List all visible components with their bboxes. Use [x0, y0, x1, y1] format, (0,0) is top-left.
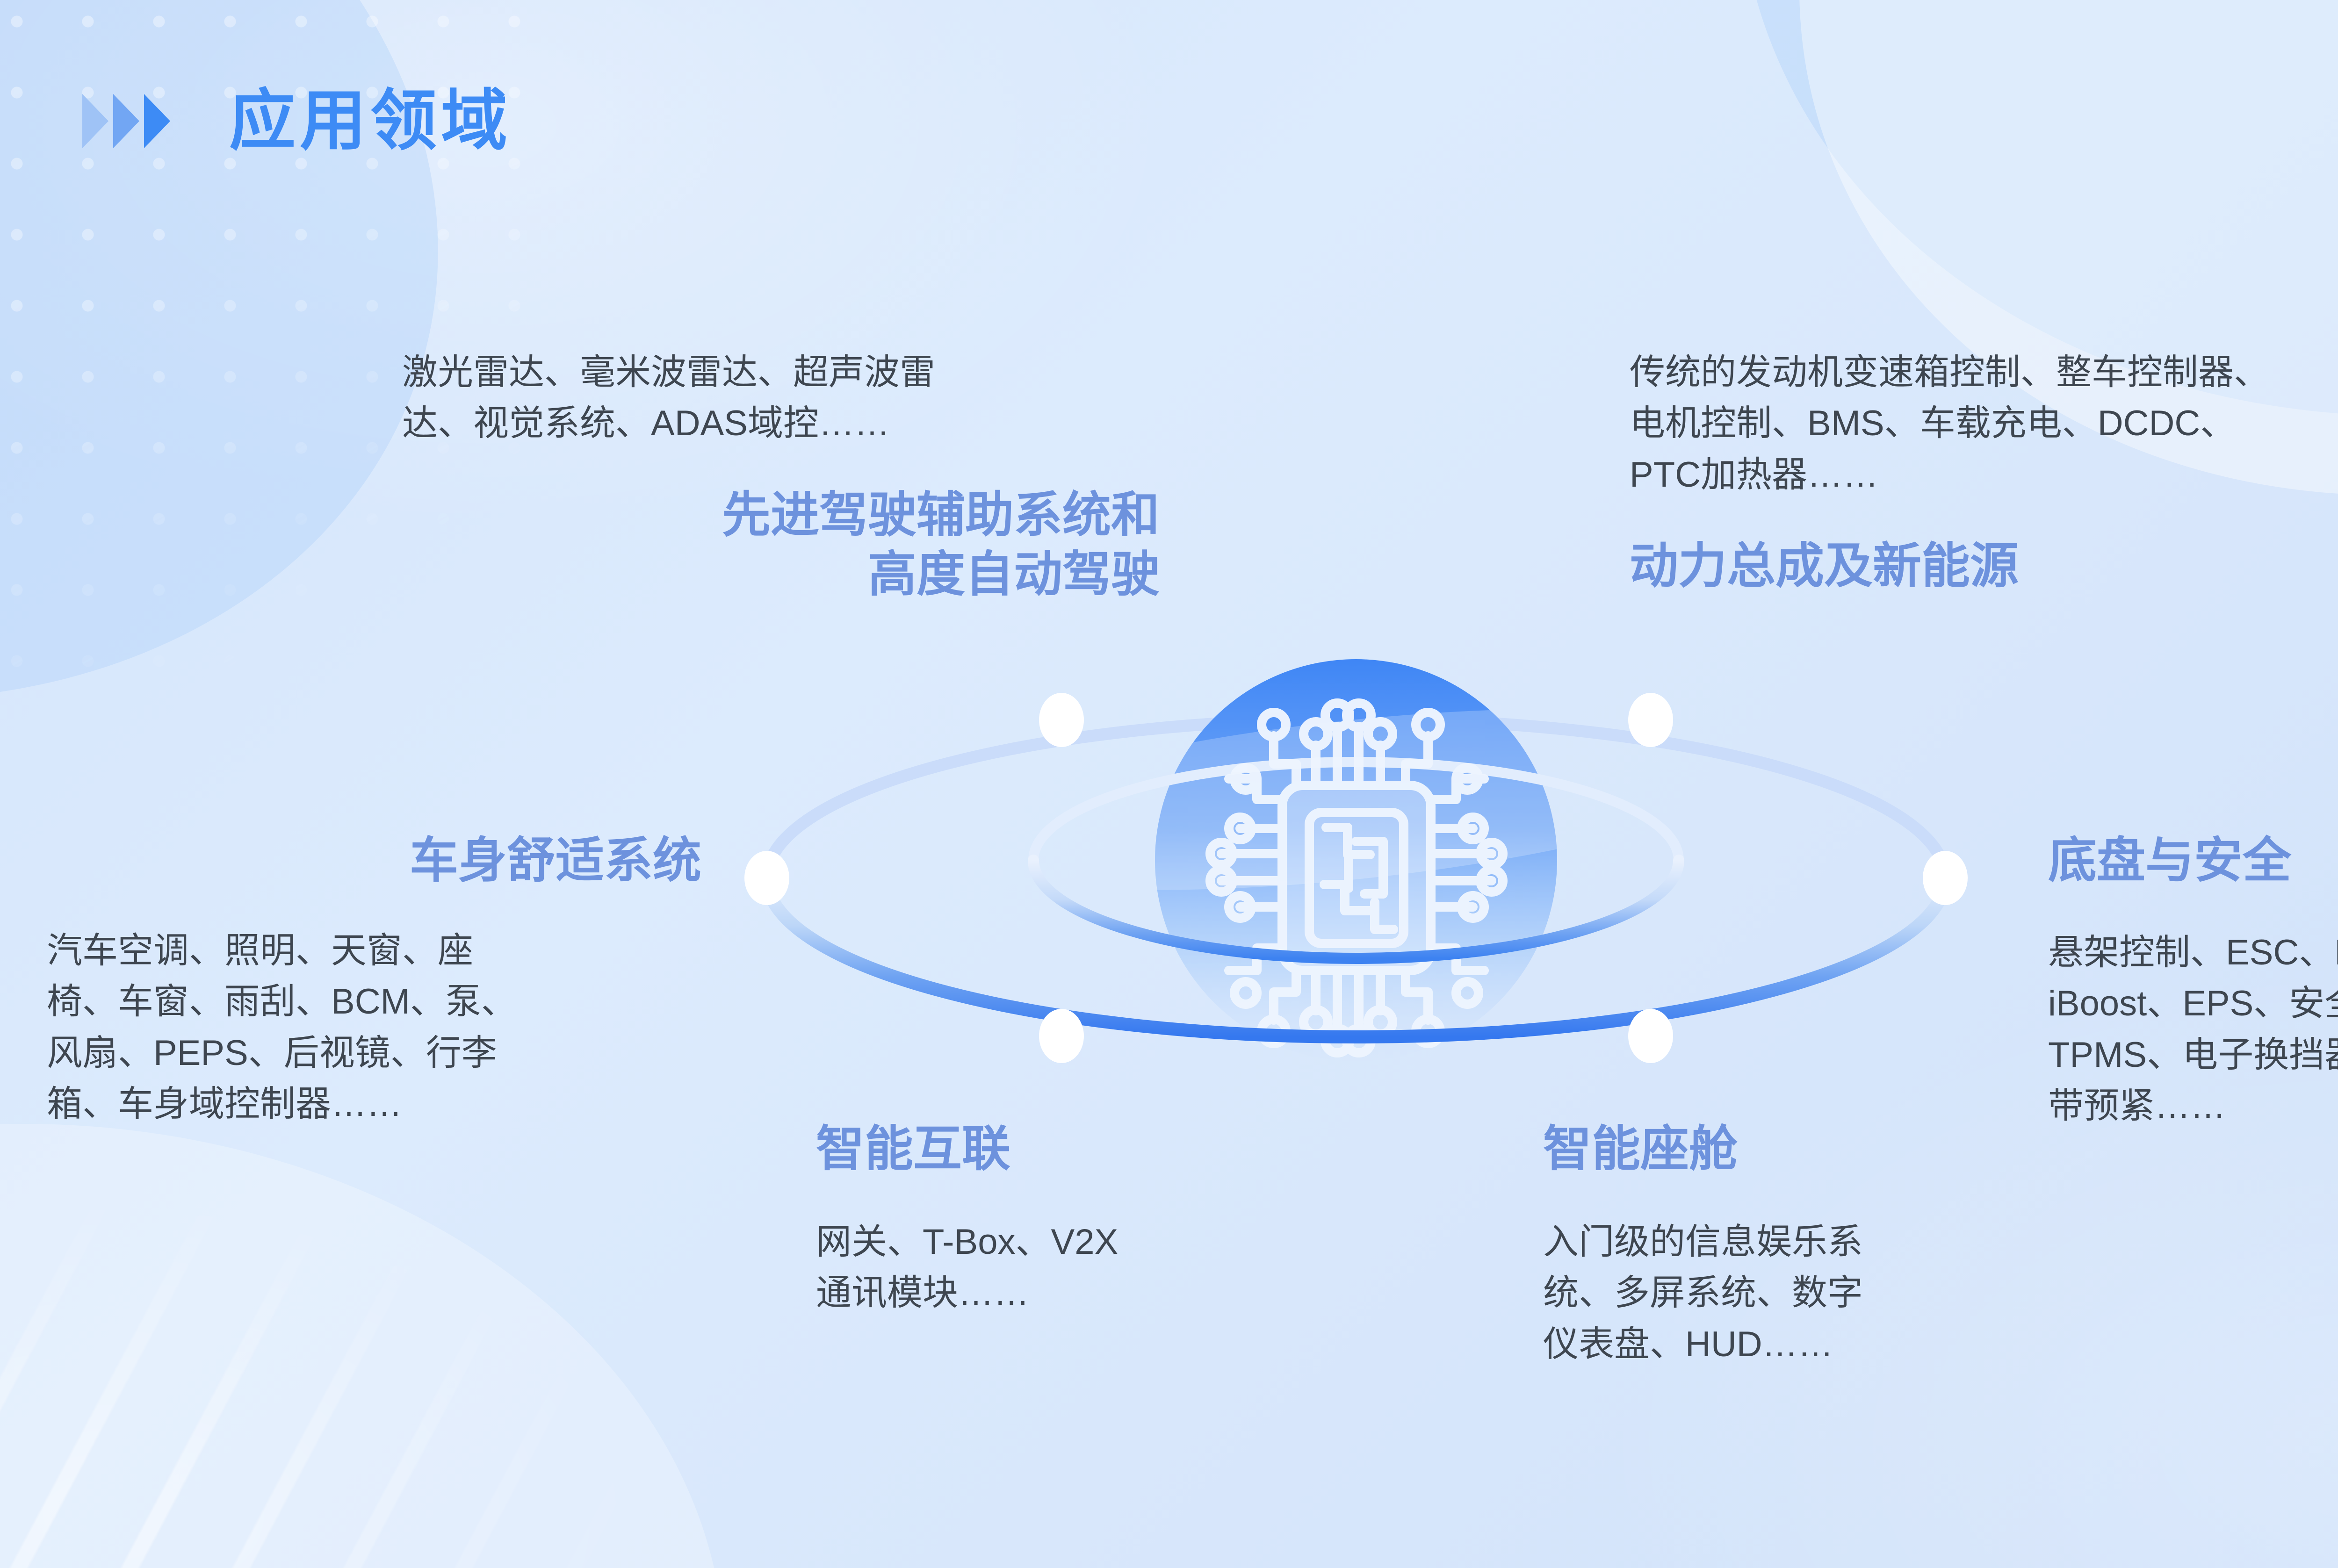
- slide-canvas: 应用领域: [0, 0, 2338, 1568]
- orbit-node-bottom-left: [1039, 1009, 1084, 1063]
- block-smart-cockpit-heading: 智能座舱: [1543, 1120, 2011, 1179]
- orbit-node-top-right: [1628, 693, 1673, 747]
- block-adas: 激光雷达、毫米波雷达、超声波雷 达、视觉系统、ADAS域控…… 先进驾驶辅助系统…: [402, 347, 1160, 604]
- page-title: 应用领域: [229, 88, 512, 154]
- block-body-comfort: 车身舒适系统 汽车空调、照明、天窗、座 椅、车窗、雨刮、BCM、泵、 风扇、PE…: [47, 831, 711, 1130]
- chevron-right-icon-2: [113, 94, 139, 148]
- block-adas-description: 激光雷达、毫米波雷达、超声波雷 达、视觉系统、ADAS域控……: [402, 347, 1160, 449]
- orbit-node-right: [1923, 851, 1968, 905]
- block-chassis-safety-description: 悬架控制、ESC、EPB、 iBoost、EPS、安全气囊、 TPMS、电子换挡…: [2048, 927, 2338, 1132]
- block-adas-heading: 先进驾驶辅助系统和 高度自动驾驶: [402, 486, 1160, 604]
- chevron-group: [82, 94, 170, 148]
- chevron-right-icon-3: [144, 94, 170, 148]
- background-wave-bottom-left: [0, 1124, 725, 1568]
- block-smart-connectivity-heading: 智能互联: [816, 1120, 1284, 1179]
- block-smart-connectivity-description: 网关、T-Box、V2X 通讯模块……: [816, 1216, 1284, 1319]
- block-smart-cockpit-description: 入门级的信息娱乐系 统、多屏系统、数字 仪表盘、HUD……: [1543, 1216, 2011, 1370]
- block-chassis-safety: 底盘与安全 悬架控制、ESC、EPB、 iBoost、EPS、安全气囊、 TPM…: [2048, 831, 2338, 1132]
- central-chip-graphic: [692, 580, 2020, 1141]
- block-powertrain-description: 传统的发动机变速箱控制、整车控制器、 电机控制、BMS、车载充电、DCDC、 P…: [1630, 347, 2338, 500]
- block-body-comfort-heading: 车身舒适系统: [47, 831, 701, 891]
- block-powertrain-heading: 动力总成及新能源: [1630, 537, 2338, 596]
- block-smart-connectivity: 智能互联 网关、T-Box、V2X 通讯模块……: [816, 1120, 1284, 1319]
- orbit-node-bottom-right: [1628, 1009, 1673, 1063]
- block-powertrain: 传统的发动机变速箱控制、整车控制器、 电机控制、BMS、车载充电、DCDC、 P…: [1630, 347, 2338, 596]
- block-chassis-safety-heading: 底盘与安全: [2048, 831, 2338, 891]
- chevron-right-icon-1: [82, 94, 108, 148]
- orbit-node-left: [744, 851, 789, 905]
- orbit-node-top-left: [1039, 693, 1084, 747]
- block-body-comfort-description: 汽车空调、照明、天窗、座 椅、车窗、雨刮、BCM、泵、 风扇、PEPS、后视镜、…: [47, 925, 711, 1130]
- block-smart-cockpit: 智能座舱 入门级的信息娱乐系 统、多屏系统、数字 仪表盘、HUD……: [1543, 1120, 2011, 1370]
- page-title-row: 应用领域: [82, 88, 512, 154]
